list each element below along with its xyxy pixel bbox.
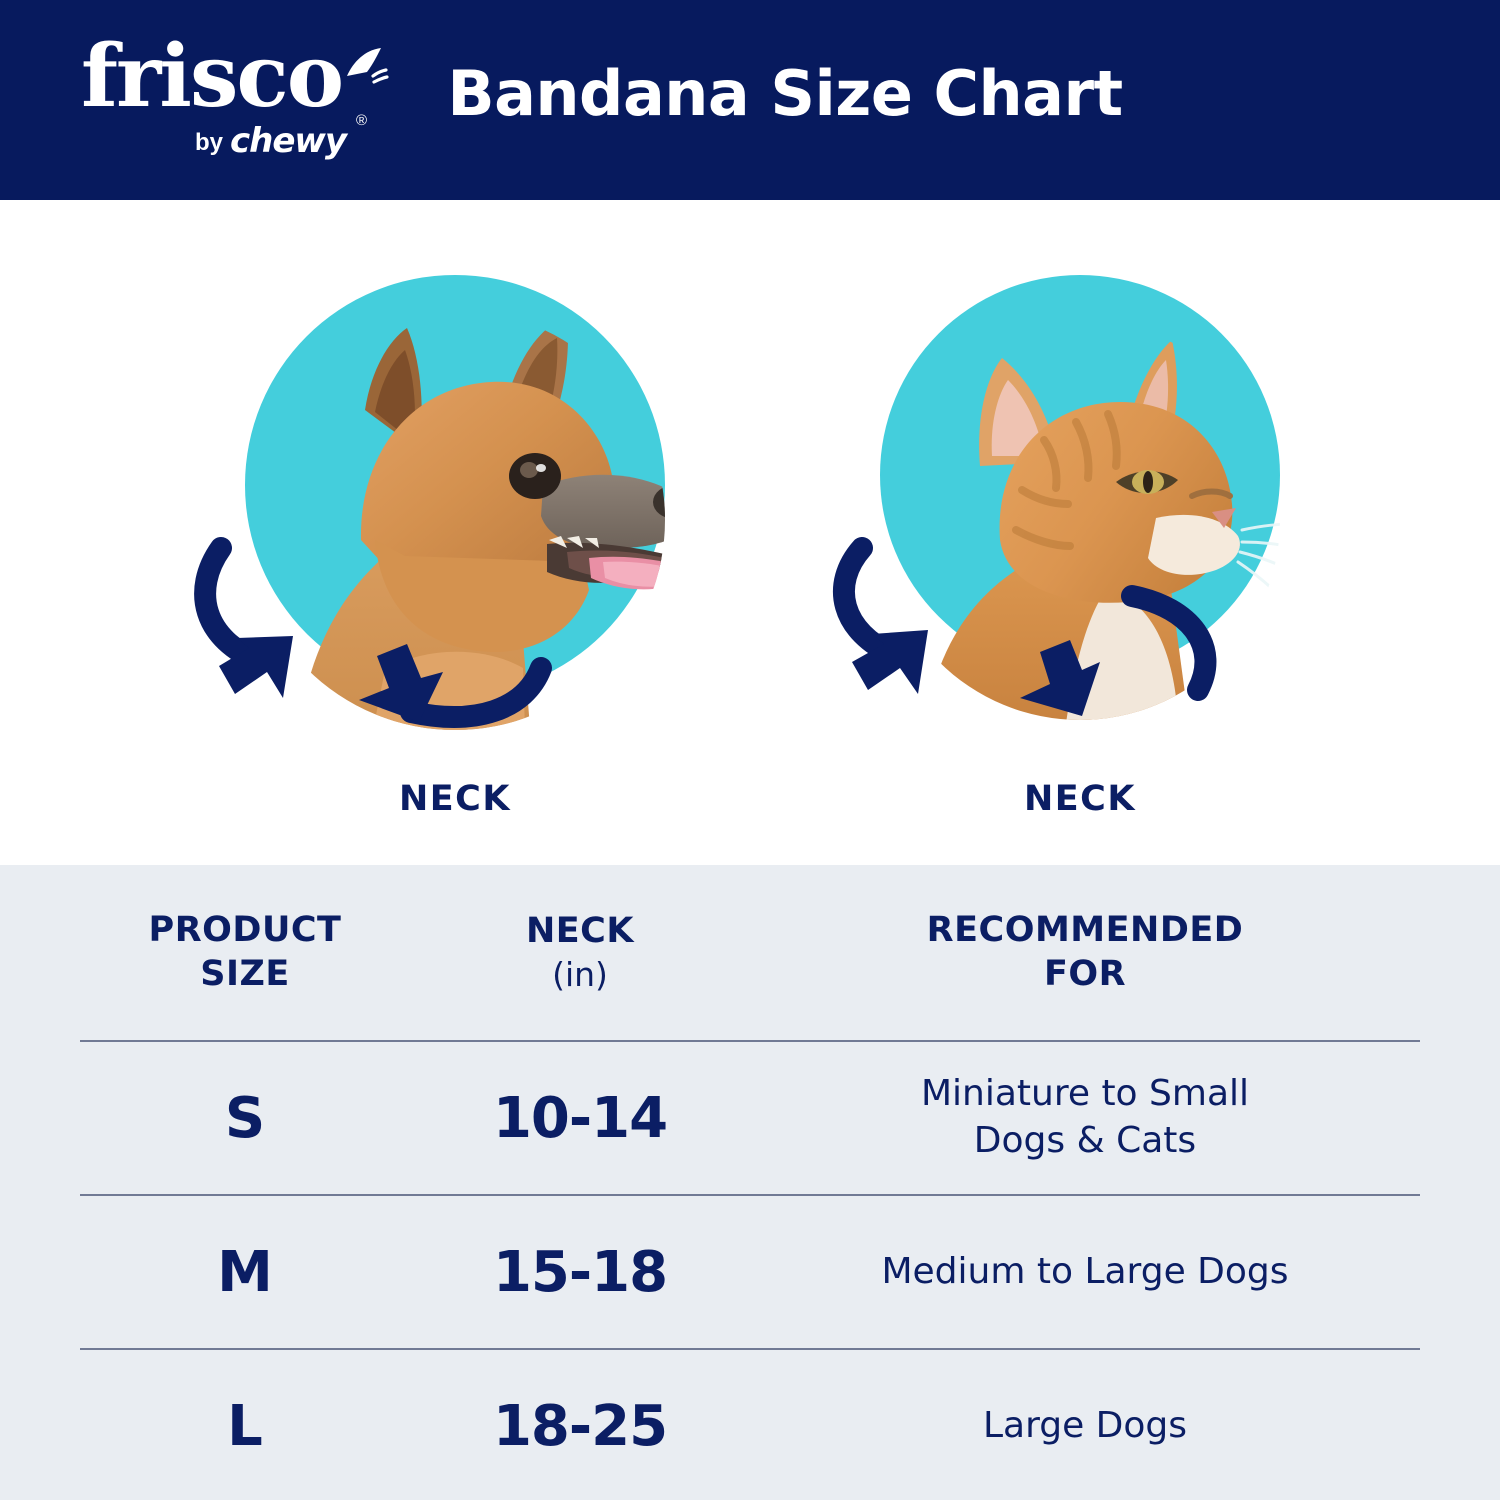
table-header-row: PRODUCT SIZE NECK (in) RECOMMENDED FOR xyxy=(80,865,1420,1040)
header-product-size-line1: PRODUCT xyxy=(149,910,342,950)
table-divider xyxy=(80,1040,1420,1042)
column-header-recommended-for: RECOMMENDED FOR xyxy=(750,909,1420,997)
cell-product-size: M xyxy=(80,1240,410,1305)
cell-neck-range: 18-25 xyxy=(410,1394,750,1459)
header-bar: frisco ® by chewy Bandana Size Chart xyxy=(0,0,1500,200)
cell-neck-range: 10-14 xyxy=(410,1086,750,1151)
dog-measurement-illustration: NECK xyxy=(175,255,735,825)
table-row: L 18-25 Large Dogs xyxy=(80,1350,1420,1500)
cell-neck-range: 15-18 xyxy=(410,1240,750,1305)
cat-measurement-illustration: NECK xyxy=(800,255,1360,825)
bandana-size-chart-page: frisco ® by chewy Bandana Size Chart xyxy=(0,0,1500,1500)
cat-head-photo xyxy=(800,255,1360,825)
cell-product-size: S xyxy=(80,1086,410,1151)
cat-neck-label: NECK xyxy=(800,779,1360,819)
size-table-section: PRODUCT SIZE NECK (in) RECOMMENDED FOR xyxy=(0,865,1500,1500)
header-product-size-line2: SIZE xyxy=(200,954,290,994)
cell-recommended-line2: Dogs & Cats xyxy=(974,1120,1196,1161)
cell-product-size: L xyxy=(80,1394,410,1459)
cell-recommended-for: Miniature to Small Dogs & Cats xyxy=(750,1071,1420,1165)
dog-head-photo xyxy=(175,255,735,825)
cell-recommended-for: Large Dogs xyxy=(750,1403,1420,1450)
illustration-band: NECK xyxy=(0,200,1500,865)
column-header-product-size: PRODUCT SIZE xyxy=(80,909,410,997)
table-divider xyxy=(80,1194,1420,1196)
header-recommended-line2: FOR xyxy=(1044,954,1126,994)
table-row: S 10-14 Miniature to Small Dogs & Cats xyxy=(80,1042,1420,1194)
table-divider xyxy=(80,1348,1420,1350)
header-recommended-line1: RECOMMENDED xyxy=(927,910,1244,950)
header-neck-unit: (in) xyxy=(410,954,750,995)
size-table: PRODUCT SIZE NECK (in) RECOMMENDED FOR xyxy=(80,865,1420,1500)
header-neck-label: NECK xyxy=(526,911,634,951)
table-row: M 15-18 Medium to Large Dogs xyxy=(80,1196,1420,1348)
dog-neck-label: NECK xyxy=(175,779,735,819)
column-header-neck: NECK (in) xyxy=(410,910,750,995)
cell-recommended-for: Medium to Large Dogs xyxy=(750,1249,1420,1296)
brand-by-label: by xyxy=(195,131,223,158)
page-title: Bandana Size Chart xyxy=(0,57,1500,130)
cell-recommended-line1: Miniature to Small xyxy=(921,1073,1249,1114)
